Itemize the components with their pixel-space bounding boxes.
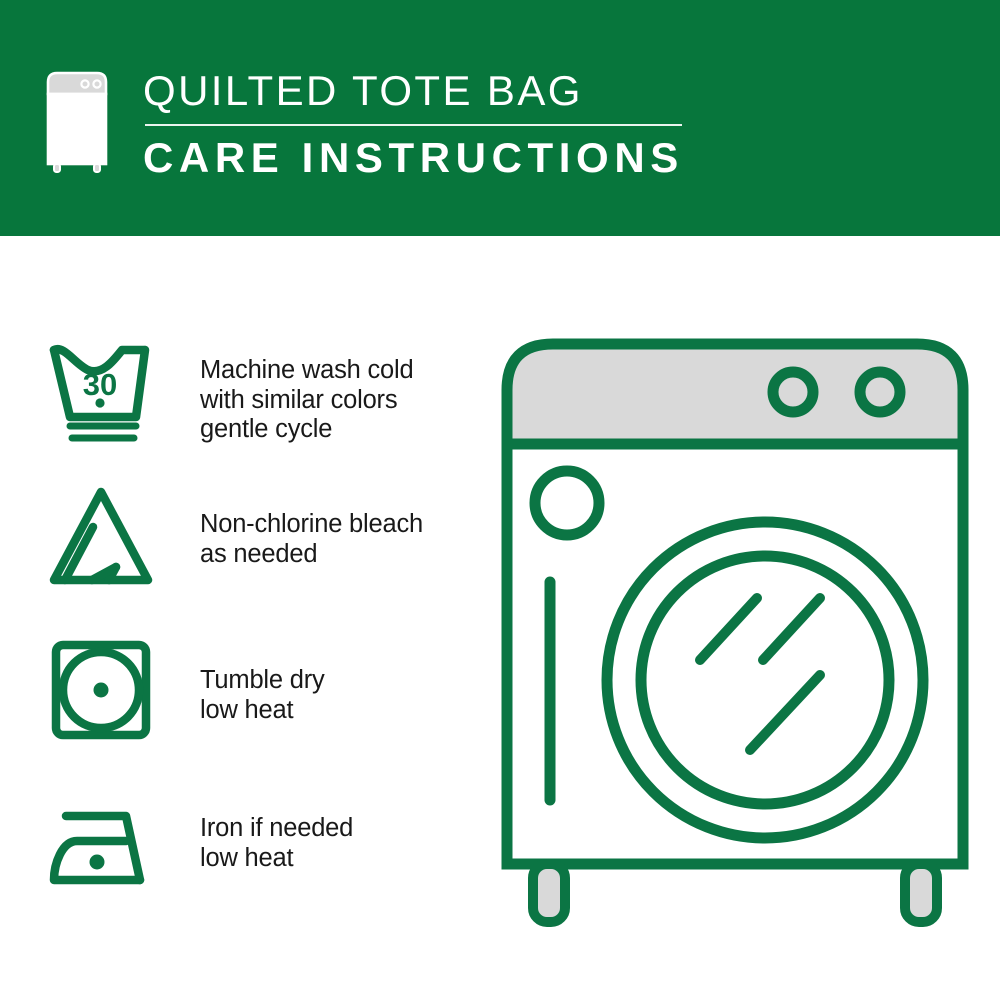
non-chlorine-bleach-symbol (48, 484, 158, 593)
page-subtitle: CARE INSTRUCTIONS (143, 132, 763, 184)
front-load-washing-machine-illustration (495, 330, 975, 930)
page-title: QUILTED TOTE BAG (143, 66, 763, 116)
care-instruction-list: 30 Machine wash cold with similar colors… (0, 236, 500, 1000)
leg-right (905, 864, 937, 922)
header-banner: QUILTED TOTE BAG CARE INSTRUCTIONS (0, 0, 1000, 236)
tumble-dry-low-heat-symbol (48, 638, 158, 747)
wash-temperature-value: 30 (83, 367, 117, 402)
machine-wash-30-gentle-symbol: 30 (48, 340, 158, 449)
care-row-tumble-dry: Tumble dry low heat (48, 638, 325, 747)
iron-low-heat-symbol (48, 792, 158, 901)
header-title-block: QUILTED TOTE BAG CARE INSTRUCTIONS (143, 66, 763, 184)
washing-machine-icon (44, 68, 110, 174)
care-row-machine-wash: 30 Machine wash cold with similar colors… (48, 340, 413, 449)
leg-left (533, 864, 565, 922)
care-text-bleach: Non-chlorine bleach as needed (200, 484, 423, 569)
care-text-tumble-dry: Tumble dry low heat (200, 638, 325, 725)
care-text-iron: Iron if needed low heat (200, 792, 353, 873)
care-instructions-infographic: QUILTED TOTE BAG CARE INSTRUCTIONS (0, 0, 1000, 1000)
title-divider (145, 124, 682, 126)
care-row-iron: Iron if needed low heat (48, 792, 353, 901)
care-row-bleach: Non-chlorine bleach as needed (48, 484, 423, 593)
care-text-machine-wash: Machine wash cold with similar colors ge… (200, 340, 413, 445)
